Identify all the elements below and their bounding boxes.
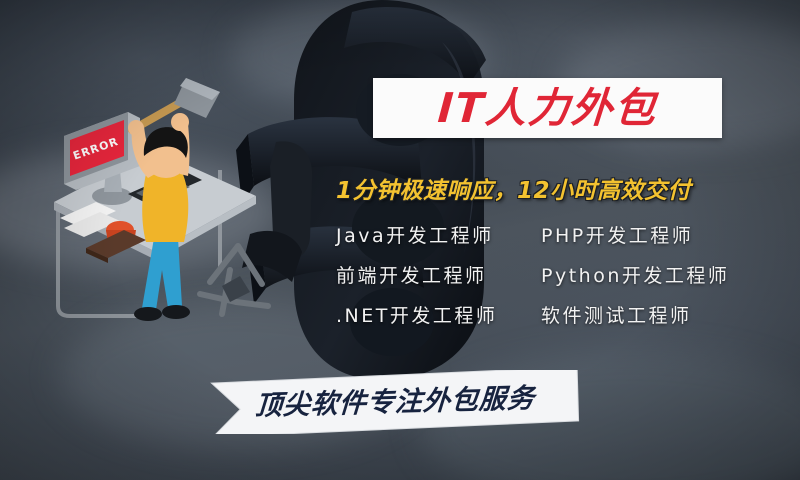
service-item: PHP开发工程师 [541, 224, 756, 248]
service-item: .NET开发工程师 [336, 304, 541, 328]
ribbon-slogan: 顶尖软件专注外包服务 [254, 385, 535, 420]
page-title: IT人力外包 [436, 88, 658, 129]
ribbon-banner: 顶尖软件专注外包服务 [210, 370, 580, 434]
service-item: 软件测试工程师 [541, 304, 756, 328]
developer-smashing-desk-illustration: ERROR [24, 70, 314, 360]
promo-banner: ERROR [0, 0, 800, 480]
error-screen-text: ERROR [71, 135, 120, 163]
service-item: Java开发工程师 [336, 224, 541, 248]
service-item: 前端开发工程师 [336, 264, 541, 288]
subtitle-text: 1分钟极速响应，12小时高效交付 [336, 176, 766, 206]
service-list: Java开发工程师 PHP开发工程师 前端开发工程师 Python开发工程师 .… [336, 224, 756, 328]
cloud-shape [0, 150, 280, 270]
title-plate: IT人力外包 [373, 78, 722, 138]
service-item: Python开发工程师 [541, 264, 756, 288]
ribbon-text-wrap: 顶尖软件专注外包服务 [209, 365, 581, 439]
